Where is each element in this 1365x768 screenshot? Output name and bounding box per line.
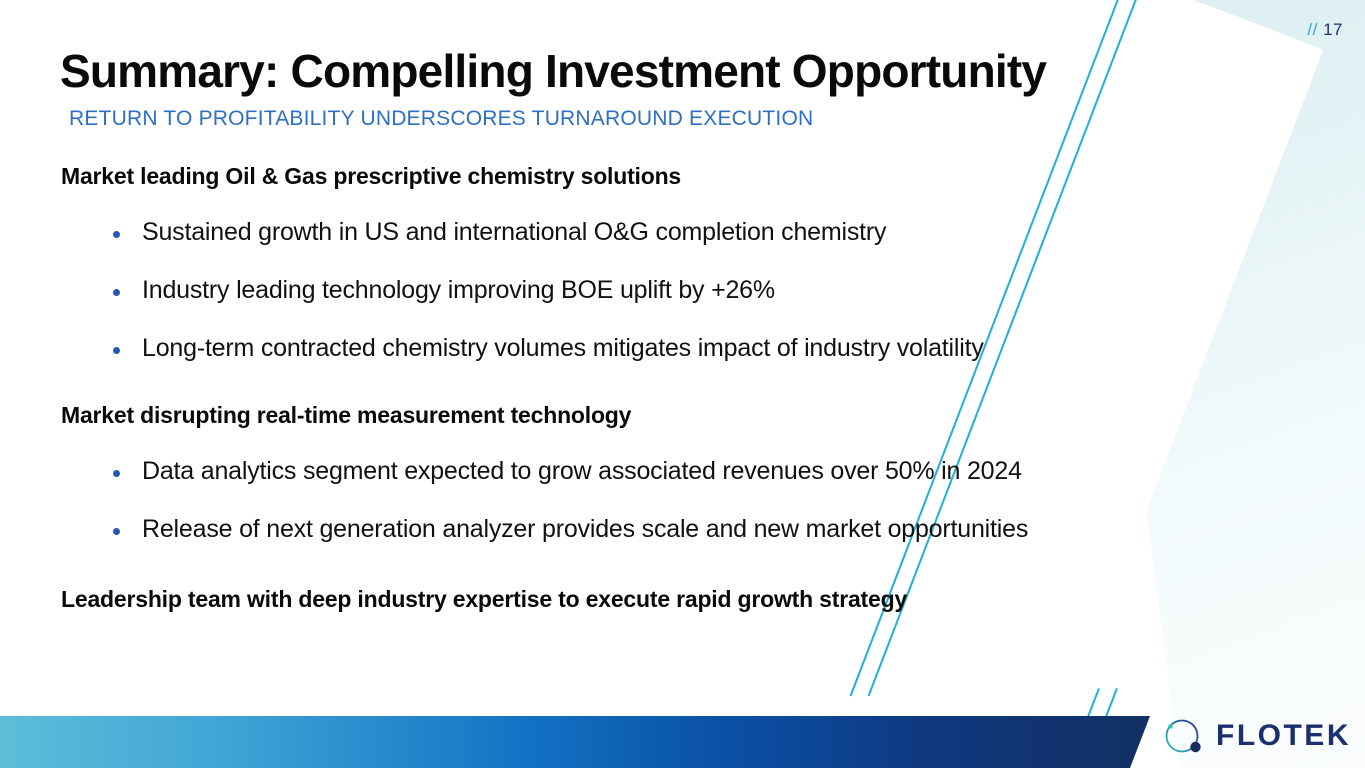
presentation-slide: // 17 Summary: Compelling Investment Opp… bbox=[0, 0, 1365, 768]
page-number-slashes: // bbox=[1307, 20, 1317, 39]
page-number: // 17 bbox=[1307, 20, 1343, 40]
flotek-circle-icon bbox=[1161, 714, 1205, 758]
list-item: Long-term contracted chemistry volumes m… bbox=[61, 334, 1291, 363]
bullet-text: Long-term contracted chemistry volumes m… bbox=[142, 334, 984, 363]
flotek-logo: FLOTEK bbox=[1161, 714, 1351, 758]
bullet-text: Data analytics segment expected to grow … bbox=[142, 457, 1022, 486]
bullet-list-2: Data analytics segment expected to grow … bbox=[61, 457, 1291, 544]
bullet-dot-icon bbox=[113, 231, 120, 238]
list-item: Sustained growth in US and international… bbox=[61, 218, 1291, 247]
bottom-gradient-bar bbox=[0, 716, 1150, 768]
bullet-dot-icon bbox=[113, 528, 120, 535]
bullet-text: Release of next generation analyzer prov… bbox=[142, 515, 1028, 544]
bullet-dot-icon bbox=[113, 289, 120, 296]
cyan-diagonal-line-3 bbox=[1062, 688, 1100, 768]
bullet-dot-icon bbox=[113, 470, 120, 477]
bullet-text: Industry leading technology improving BO… bbox=[142, 276, 775, 305]
section-heading-1: Market leading Oil & Gas prescriptive ch… bbox=[61, 163, 1291, 190]
cyan-diagonal-line-4 bbox=[1080, 688, 1118, 768]
page-number-value: 17 bbox=[1323, 20, 1343, 39]
list-item: Industry leading technology improving BO… bbox=[61, 276, 1291, 305]
slide-title: Summary: Compelling Investment Opportuni… bbox=[60, 44, 1046, 98]
bullet-list-1: Sustained growth in US and international… bbox=[61, 218, 1291, 362]
section-heading-2: Market disrupting real-time measurement … bbox=[61, 402, 1291, 429]
list-item: Data analytics segment expected to grow … bbox=[61, 457, 1291, 486]
bullet-dot-icon bbox=[113, 347, 120, 354]
slide-body: Market leading Oil & Gas prescriptive ch… bbox=[61, 163, 1291, 613]
bullet-text: Sustained growth in US and international… bbox=[142, 218, 886, 247]
flotek-wordmark: FLOTEK bbox=[1216, 721, 1351, 751]
slide-subtitle: RETURN TO PROFITABILITY UNDERSCORES TURN… bbox=[69, 107, 813, 131]
list-item: Release of next generation analyzer prov… bbox=[61, 515, 1291, 544]
section-heading-3: Leadership team with deep industry exper… bbox=[61, 586, 1291, 613]
